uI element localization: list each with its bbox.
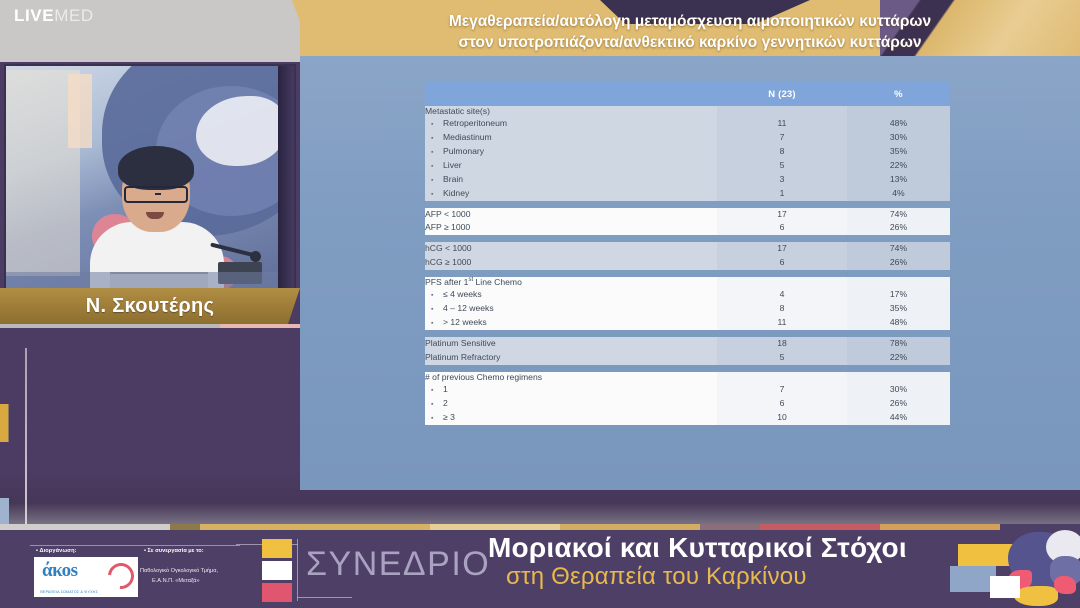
footer-divider-line: [30, 545, 240, 546]
table-value-pct: 44%: [847, 411, 950, 425]
bullet-icon: ▪: [425, 147, 443, 158]
table-header-row: N (23) %: [425, 82, 950, 106]
bullet-icon: ▪: [425, 189, 443, 200]
table-value-pct: 78%: [847, 337, 950, 351]
table-header-n: N (23): [717, 82, 847, 106]
table-value-n: 4: [717, 288, 847, 302]
table-cell-n: 1178531: [717, 106, 847, 201]
congress-title-line1: Μοριακοί και Κυτταρικοί Στόχοι: [488, 533, 958, 563]
table-header-pct: %: [847, 82, 950, 106]
list-item: ▪> 12 weeks: [425, 316, 717, 330]
footer-organizers: • Διοργάνωση: • Σε συνεργασία με το: άκο…: [22, 545, 252, 601]
list-item-label: Platinum Sensitive: [425, 337, 717, 351]
table-value-n: 11: [717, 316, 847, 330]
table-value-pct: 26%: [847, 397, 950, 411]
table-value-n: 8: [717, 302, 847, 316]
table-value-pct: 26%: [847, 221, 950, 235]
video-side-edge: [278, 66, 294, 288]
table-section-title: # of previous Chemo regimens: [425, 372, 717, 382]
list-item-label: 1: [443, 383, 448, 397]
livemed-logo-live: LIVE: [14, 6, 54, 25]
table-value-pct: 22%: [847, 351, 950, 365]
video-desk: [6, 272, 294, 288]
table-row-spacer: [425, 270, 950, 277]
color-square-yellow: [262, 539, 292, 558]
table-cell-n: 4811: [717, 277, 847, 330]
list-item: ▪≤ 4 weeks: [425, 288, 717, 302]
speaker-nameplate: Ν. Σκουτέρης: [0, 288, 300, 324]
akos-logo-text: άκοs: [42, 560, 78, 582]
speaker-figure: [92, 152, 222, 288]
table-value-n: 5: [717, 159, 847, 173]
table-value-n: 7: [717, 383, 847, 397]
bullet-icon: ▪: [425, 399, 443, 410]
bullet-icon: ▪: [425, 385, 443, 396]
bullet-icon: ▪: [425, 119, 443, 130]
table-row: AFP < 1000AFP ≥ 100017674%26%: [425, 208, 950, 236]
table-value-n: 5: [717, 351, 847, 365]
table-value-pct: 30%: [847, 131, 950, 145]
table-row: Metastatic site(s)▪Retroperitoneum▪Media…: [425, 106, 950, 201]
list-item-label: 2: [443, 397, 448, 411]
list-item-label: Liver: [443, 159, 462, 173]
bottom-right-artwork: [950, 530, 1080, 608]
table-cell-pct: 78%22%: [847, 337, 950, 365]
ordinal-suffix: st: [468, 277, 473, 283]
cooperation-org-line1: Παθολογικό Ογκολογικό Τμήμα,: [140, 567, 260, 577]
list-item-label: Brain: [443, 173, 463, 187]
table-cell-pct: 74%26%: [847, 242, 950, 270]
table-value-n: 11: [717, 117, 847, 131]
decorative-gold-tick: [0, 404, 9, 442]
table-value-n: 3: [717, 173, 847, 187]
list-item-label: AFP < 1000: [425, 208, 717, 222]
speaker-nameplate-underline: [0, 324, 300, 328]
video-slide-accent: [68, 74, 92, 148]
table-cell-n: 185: [717, 337, 847, 365]
table-value-n: 18: [717, 337, 847, 351]
table-section-title: PFS after 1st Line Chemo: [425, 277, 717, 287]
table-row-spacer: [425, 365, 950, 372]
artwork-blob-yellow: [1014, 586, 1058, 606]
table-section-rows: AFP < 1000AFP ≥ 1000: [425, 208, 717, 236]
table-row: hCG < 1000hCG ≥ 100017674%26%: [425, 242, 950, 270]
presentation-title: Μεγαθεραπεία/αυτόλογη μεταμόσχευση αιμοπ…: [300, 6, 1080, 58]
table-value-n: 17: [717, 208, 847, 222]
bullet-icon: ▪: [425, 161, 443, 172]
table-section-rows: Platinum SensitivePlatinum Refractory: [425, 337, 717, 365]
artwork-square-white: [990, 576, 1020, 598]
cooperation-org: Παθολογικό Ογκολογικό Τμήμα, Ε.Α.Ν.Π. «Μ…: [140, 567, 260, 586]
akos-swirl-icon: [103, 558, 140, 595]
table-cell-label: PFS after 1st Line Chemo▪≤ 4 weeks▪4 – 1…: [425, 277, 717, 330]
table-cell-label: # of previous Chemo regimens▪1▪2▪≥ 3: [425, 372, 717, 425]
table-section-list: ▪≤ 4 weeks▪4 – 12 weeks▪> 12 weeks: [425, 288, 717, 330]
artwork-blob-pink-2: [1054, 576, 1076, 594]
table-section-list: ▪1▪2▪≥ 3: [425, 383, 717, 425]
table-cell-label: hCG < 1000hCG ≥ 1000: [425, 242, 717, 270]
speaker-name: Ν. Σκουτέρης: [86, 295, 214, 318]
presentation-title-line1: Μεγαθεραπεία/αυτόλογη μεταμόσχευση αιμοπ…: [449, 12, 931, 31]
list-item: ▪Kidney: [425, 187, 717, 201]
list-item: ▪Pulmonary: [425, 145, 717, 159]
table-row-spacer: [425, 330, 950, 337]
bullet-icon: ▪: [425, 175, 443, 186]
table-value-pct: 74%: [847, 208, 950, 222]
bullet-icon: ▪: [425, 304, 443, 315]
table-value-pct: 22%: [847, 159, 950, 173]
footer-line-v: [297, 539, 298, 601]
list-item: ▪4 – 12 weeks: [425, 302, 717, 316]
table-cell-pct: 74%26%: [847, 208, 950, 236]
akos-logo: άκοs ΘΕΡΑΠΕΙΑ ΣΩΜΑΤΟΣ & ΨΥΧΗΣ: [34, 557, 138, 597]
cooperation-label: • Σε συνεργασία με το:: [144, 548, 204, 554]
table-body: Metastatic site(s)▪Retroperitoneum▪Media…: [425, 106, 950, 425]
table-cell-label: AFP < 1000AFP ≥ 1000: [425, 208, 717, 236]
livemed-logo-med: MED: [54, 6, 94, 25]
table-cell-n: 176: [717, 242, 847, 270]
table-value-n: 10: [717, 411, 847, 425]
list-item: ▪Brain: [425, 173, 717, 187]
list-item-label: ≤ 4 weeks: [443, 288, 482, 302]
artwork-square-yellow: [958, 544, 1014, 566]
list-item-label: Mediastinum: [443, 131, 492, 145]
decorative-blue-tick: [0, 498, 9, 524]
color-square-white: [262, 561, 292, 580]
table-head: N (23) %: [425, 82, 950, 106]
table-cell-pct: 30%26%44%: [847, 372, 950, 425]
table-value-pct: 4%: [847, 187, 950, 201]
table-section-title: Metastatic site(s): [425, 106, 717, 116]
cooperation-org-line2: Ε.Α.Ν.Π. «Μεταξά»: [140, 577, 260, 587]
table-value-pct: 48%: [847, 117, 950, 131]
list-item-label: hCG ≥ 1000: [425, 256, 717, 270]
table-value-pct: 74%: [847, 242, 950, 256]
patient-characteristics-table: N (23) % Metastatic site(s)▪Retroperiton…: [425, 82, 950, 425]
glasses-icon: [124, 186, 188, 203]
table-value-pct: 13%: [847, 173, 950, 187]
congress-title: Μοριακοί και Κυτταρικοί Στόχοι στη Θεραπ…: [488, 533, 958, 592]
table-value-n: 8: [717, 145, 847, 159]
synedrio-label: ΣΥΝΕΔΡΙΟ: [306, 545, 490, 584]
table-cell-pct: 48%30%35%22%13%4%: [847, 106, 950, 201]
table-value-pct: 17%: [847, 288, 950, 302]
presentation-title-line2: στον υποτροπιάζοντα/ανθεκτικό καρκίνο γε…: [458, 33, 921, 52]
table-value-pct: 26%: [847, 256, 950, 270]
decorative-vertical-line: [25, 348, 27, 530]
list-item-label: ≥ 3: [443, 411, 455, 425]
footer-color-squares: [262, 539, 292, 605]
list-item: ▪2: [425, 397, 717, 411]
table-value-n: 7: [717, 131, 847, 145]
table-cell-n: 176: [717, 208, 847, 236]
table-cell-n: 7610: [717, 372, 847, 425]
bullet-icon: ▪: [425, 133, 443, 144]
list-item-label: AFP ≥ 1000: [425, 221, 717, 235]
table-value-pct: 30%: [847, 383, 950, 397]
table-row-spacer: [425, 201, 950, 208]
list-item-label: Kidney: [443, 187, 469, 201]
akos-logo-subtitle: ΘΕΡΑΠΕΙΑ ΣΩΜΑΤΟΣ & ΨΥΧΗΣ: [40, 590, 98, 594]
list-item-label: 4 – 12 weeks: [443, 302, 494, 316]
table-header-blank: [425, 82, 717, 106]
list-item-label: Platinum Refractory: [425, 351, 717, 365]
slide-area: N (23) % Metastatic site(s)▪Retroperiton…: [300, 56, 1080, 490]
congress-title-line2: στη Θεραπεία του Καρκίνου: [488, 563, 958, 592]
speaker-hair: [118, 146, 194, 190]
bullet-icon: ▪: [425, 290, 443, 301]
table-row: # of previous Chemo regimens▪1▪2▪≥ 3 761…: [425, 372, 950, 425]
table-row-spacer: [425, 235, 950, 242]
table-section-rows: hCG < 1000hCG ≥ 1000: [425, 242, 717, 270]
list-item: ▪≥ 3: [425, 411, 717, 425]
screen-root: LIVEMED Μεγαθεραπεία/αυτόλογη μεταμόσχευ…: [0, 0, 1080, 608]
list-item: ▪Liver: [425, 159, 717, 173]
table-row: Platinum SensitivePlatinum Refractory185…: [425, 337, 950, 365]
table-row: PFS after 1st Line Chemo▪≤ 4 weeks▪4 – 1…: [425, 277, 950, 330]
table-cell-label: Metastatic site(s)▪Retroperitoneum▪Media…: [425, 106, 717, 201]
table-section-list: ▪Retroperitoneum▪Mediastinum▪Pulmonary▪L…: [425, 117, 717, 201]
table-value-pct: 48%: [847, 316, 950, 330]
color-square-red: [262, 583, 292, 602]
list-item: ▪Retroperitoneum: [425, 117, 717, 131]
table-value-n: 1: [717, 187, 847, 201]
table-value-n: 6: [717, 256, 847, 270]
list-item-label: Retroperitoneum: [443, 117, 507, 131]
table-cell-label: Platinum SensitivePlatinum Refractory: [425, 337, 717, 365]
table-cell-pct: 17%35%48%: [847, 277, 950, 330]
table-value-n: 17: [717, 242, 847, 256]
bullet-icon: ▪: [425, 318, 443, 329]
list-item: ▪Mediastinum: [425, 131, 717, 145]
speaker-video[interactable]: [6, 66, 294, 288]
list-item-label: hCG < 1000: [425, 242, 717, 256]
organizer-label: • Διοργάνωση:: [36, 548, 77, 554]
list-item: ▪1: [425, 383, 717, 397]
list-item-label: > 12 weeks: [443, 316, 487, 330]
table-value-pct: 35%: [847, 302, 950, 316]
table-value-n: 6: [717, 221, 847, 235]
table-value-n: 6: [717, 397, 847, 411]
livemed-logo: LIVEMED: [14, 6, 94, 26]
list-item-label: Pulmonary: [443, 145, 484, 159]
table-value-pct: 35%: [847, 145, 950, 159]
microphone-head-icon: [250, 251, 261, 262]
footer-line-h: [297, 597, 352, 598]
bullet-icon: ▪: [425, 413, 443, 424]
